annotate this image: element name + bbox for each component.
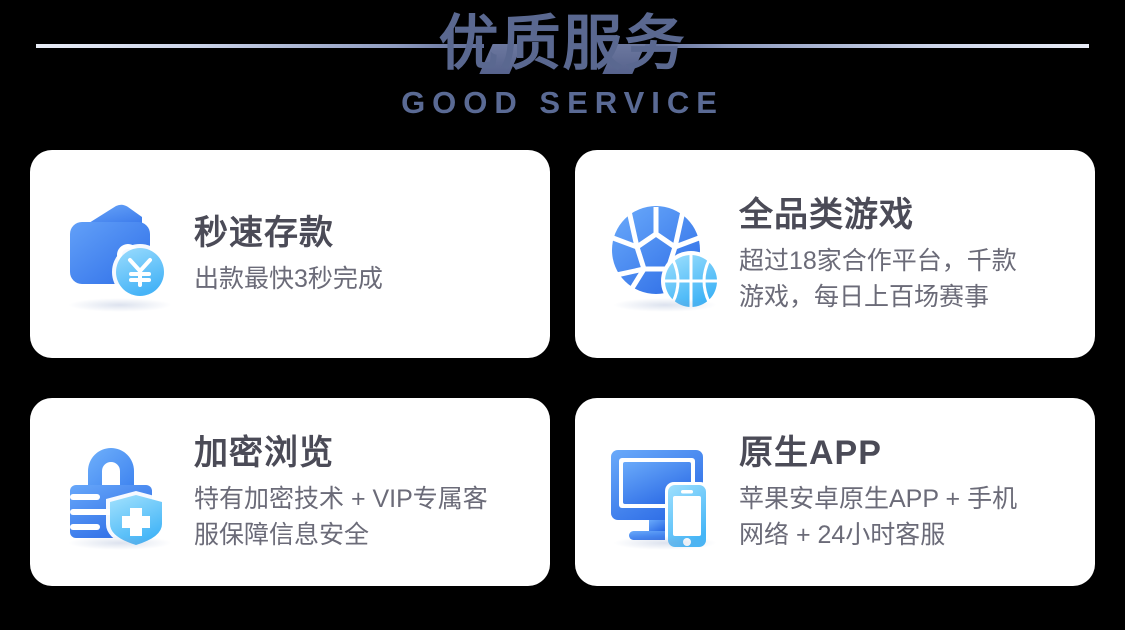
feature-card-all-category-games[interactable]: 全品类游戏 超过18家合作平台，千款 游戏，每日上百场赛事 xyxy=(575,150,1095,358)
icon-shadow xyxy=(613,298,717,312)
soccer-basketball-icon xyxy=(605,194,725,314)
card-text-group: 加密浏览 特有加密技术 + VIP专属客 服保障信息安全 xyxy=(194,432,532,553)
card-title: 秒速存款 xyxy=(194,212,532,254)
lock-shield-icon xyxy=(60,432,180,552)
feature-card-encrypted-browsing[interactable]: 加密浏览 特有加密技术 + VIP专属客 服保障信息安全 xyxy=(30,398,550,586)
header-text-group: 优质服务 GOOD SERVICE xyxy=(0,8,1125,120)
card-text-group: 秒速存款 出款最快3秒完成 xyxy=(194,212,532,297)
page-title: 优质服务 xyxy=(439,8,687,80)
icon-shadow xyxy=(68,298,172,312)
card-text-group: 原生APP 苹果安卓原生APP + 手机 网络 + 24小时客服 xyxy=(739,432,1077,553)
monitor-phone-icon xyxy=(605,432,725,552)
card-description: 苹果安卓原生APP + 手机 网络 + 24小时客服 xyxy=(739,481,1077,553)
card-description: 出款最快3秒完成 xyxy=(194,261,532,297)
icon-shadow xyxy=(68,536,172,550)
feature-card-grid: 秒速存款 出款最快3秒完成 xyxy=(30,150,1095,588)
section-header: 优质服务 GOOD SERVICE xyxy=(0,0,1125,146)
card-title: 加密浏览 xyxy=(194,432,532,474)
feature-card-native-app[interactable]: 原生APP 苹果安卓原生APP + 手机 网络 + 24小时客服 xyxy=(575,398,1095,586)
card-text-group: 全品类游戏 超过18家合作平台，千款 游戏，每日上百场赛事 xyxy=(739,194,1077,315)
good-service-panel: 优质服务 GOOD SERVICE xyxy=(0,0,1125,630)
icon-shadow xyxy=(613,536,717,550)
card-description: 超过18家合作平台，千款 游戏，每日上百场赛事 xyxy=(739,243,1077,315)
wallet-yen-icon xyxy=(60,194,180,314)
feature-card-instant-deposit[interactable]: 秒速存款 出款最快3秒完成 xyxy=(30,150,550,358)
card-title: 全品类游戏 xyxy=(739,194,1077,236)
card-title: 原生APP xyxy=(739,432,1077,474)
page-subtitle: GOOD SERVICE xyxy=(401,86,724,120)
card-description: 特有加密技术 + VIP专属客 服保障信息安全 xyxy=(194,481,532,553)
